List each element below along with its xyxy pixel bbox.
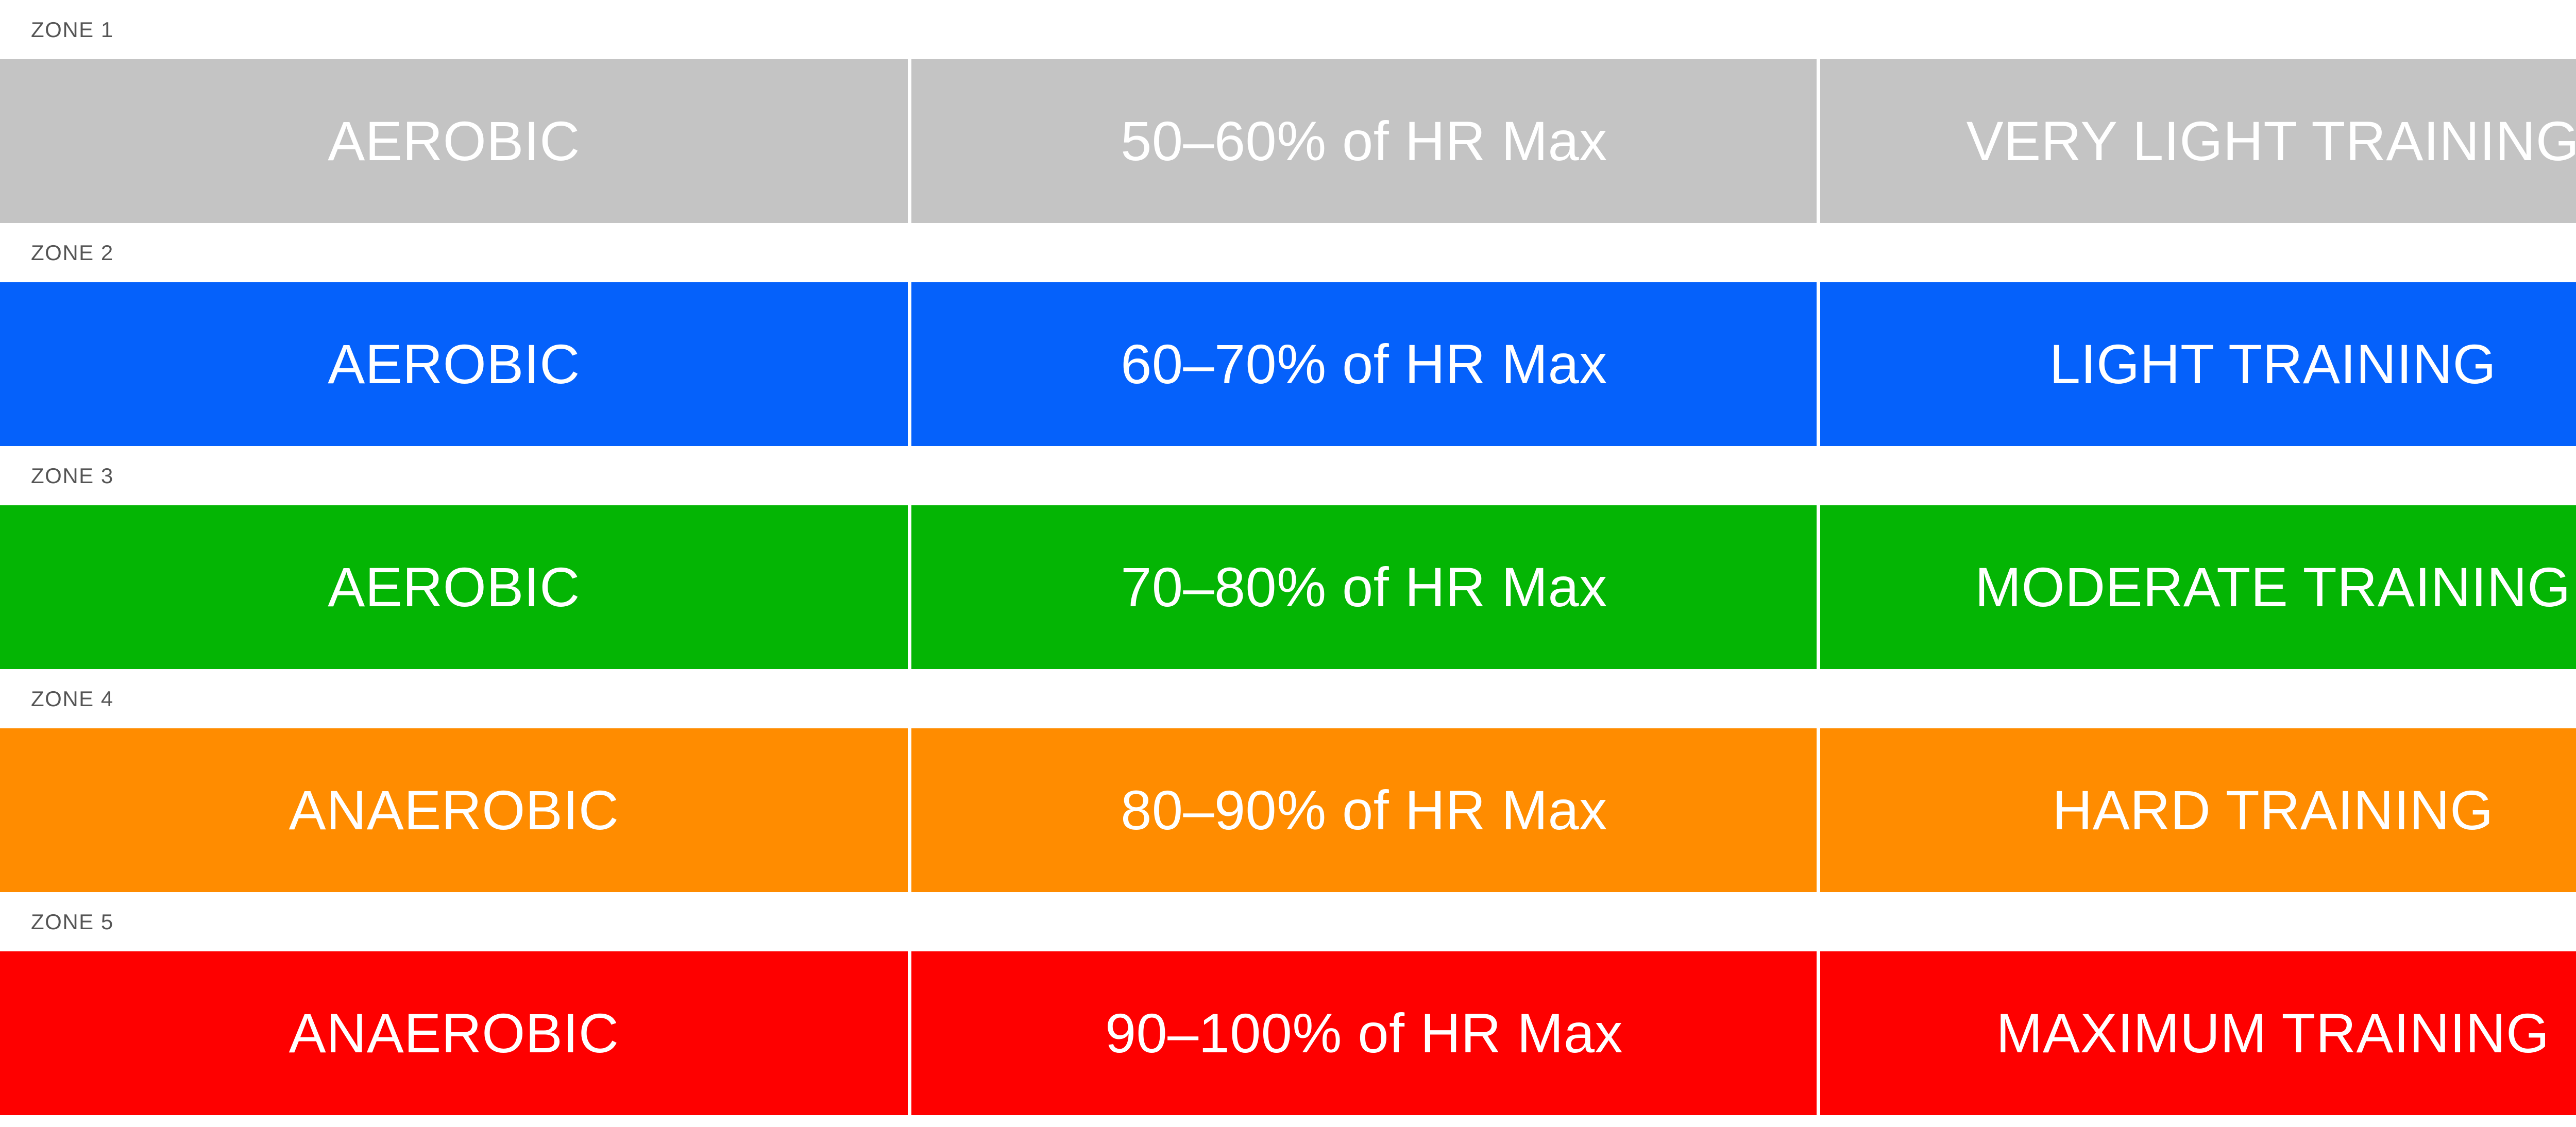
heart-rate-zones-table: ZONE 1 AEROBIC 50–60% of HR Max VERY LIG… [0, 0, 2576, 1127]
zone-band-4: ANAEROBIC 80–90% of HR Max HARD TRAINING [0, 728, 2576, 892]
zone-block-3: ZONE 3 AEROBIC 70–80% of HR Max MODERATE… [0, 446, 2576, 669]
zone-label-strip-4: ZONE 4 [0, 669, 2576, 728]
zone-1-range-cell: 50–60% of HR Max [911, 59, 1817, 223]
zone-band-1: AEROBIC 50–60% of HR Max VERY LIGHT TRAI… [0, 59, 2576, 223]
zone-4-range-cell: 80–90% of HR Max [911, 728, 1817, 892]
zone-2-activity-cell: AEROBIC [0, 282, 908, 446]
zone-5-intensity-cell: MAXIMUM TRAINING [1820, 951, 2576, 1115]
zone-5-divider-right [1817, 951, 1820, 1115]
zone-3-activity-text: AEROBIC [328, 559, 580, 615]
zone-4-divider-right [1817, 728, 1820, 892]
zone-label-1: ZONE 1 [31, 19, 114, 41]
zone-block-2: ZONE 2 AEROBIC 60–70% of HR Max LIGHT TR… [0, 223, 2576, 446]
zone-1-range-text: 50–60% of HR Max [1121, 113, 1607, 169]
zone-4-divider-left [908, 728, 911, 892]
zone-5-activity-text: ANAEROBIC [289, 1005, 619, 1061]
zone-label-strip-1: ZONE 1 [0, 0, 2576, 59]
zone-4-range-text: 80–90% of HR Max [1121, 782, 1607, 838]
zone-label-4: ZONE 4 [31, 688, 114, 710]
zone-label-3: ZONE 3 [31, 465, 114, 487]
zone-2-intensity-cell: LIGHT TRAINING [1820, 282, 2576, 446]
zone-5-divider-left [908, 951, 911, 1115]
zone-3-range-cell: 70–80% of HR Max [911, 505, 1817, 669]
zone-2-range-text: 60–70% of HR Max [1121, 336, 1607, 392]
zone-5-activity-cell: ANAEROBIC [0, 951, 908, 1115]
zone-5-intensity-text: MAXIMUM TRAINING [1996, 1005, 2549, 1061]
zone-1-divider-left [908, 59, 911, 223]
zone-2-activity-text: AEROBIC [328, 336, 580, 392]
zone-3-intensity-text: MODERATE TRAINING [1975, 559, 2571, 615]
zone-4-intensity-text: HARD TRAINING [2052, 782, 2494, 838]
zone-1-intensity-text: VERY LIGHT TRAINING [1967, 113, 2576, 169]
zone-band-5: ANAEROBIC 90–100% of HR Max MAXIMUM TRAI… [0, 951, 2576, 1115]
zone-1-divider-right [1817, 59, 1820, 223]
zone-label-2: ZONE 2 [31, 242, 114, 264]
zone-label-strip-3: ZONE 3 [0, 446, 2576, 505]
zone-2-range-cell: 60–70% of HR Max [911, 282, 1817, 446]
zone-5-range-cell: 90–100% of HR Max [911, 951, 1817, 1115]
zone-label-5: ZONE 5 [31, 911, 114, 933]
zone-3-intensity-cell: MODERATE TRAINING [1820, 505, 2576, 669]
zone-1-activity-cell: AEROBIC [0, 59, 908, 223]
zone-block-1: ZONE 1 AEROBIC 50–60% of HR Max VERY LIG… [0, 0, 2576, 223]
zone-2-intensity-text: LIGHT TRAINING [2049, 336, 2496, 392]
zone-block-4: ZONE 4 ANAEROBIC 80–90% of HR Max HARD T… [0, 669, 2576, 892]
zone-4-intensity-cell: HARD TRAINING [1820, 728, 2576, 892]
zone-3-range-text: 70–80% of HR Max [1121, 559, 1607, 615]
zone-label-strip-2: ZONE 2 [0, 223, 2576, 282]
zone-band-2: AEROBIC 60–70% of HR Max LIGHT TRAINING [0, 282, 2576, 446]
zone-3-divider-right [1817, 505, 1820, 669]
zone-band-3: AEROBIC 70–80% of HR Max MODERATE TRAINI… [0, 505, 2576, 669]
zone-1-activity-text: AEROBIC [328, 113, 580, 169]
zone-block-5: ZONE 5 ANAEROBIC 90–100% of HR Max MAXIM… [0, 892, 2576, 1115]
zone-1-intensity-cell: VERY LIGHT TRAINING [1820, 59, 2576, 223]
zone-3-activity-cell: AEROBIC [0, 505, 908, 669]
zone-4-activity-text: ANAEROBIC [289, 782, 619, 838]
zone-3-divider-left [908, 505, 911, 669]
zone-label-strip-5: ZONE 5 [0, 892, 2576, 951]
zone-2-divider-right [1817, 282, 1820, 446]
zone-4-activity-cell: ANAEROBIC [0, 728, 908, 892]
zone-2-divider-left [908, 282, 911, 446]
zone-5-range-text: 90–100% of HR Max [1105, 1005, 1623, 1061]
